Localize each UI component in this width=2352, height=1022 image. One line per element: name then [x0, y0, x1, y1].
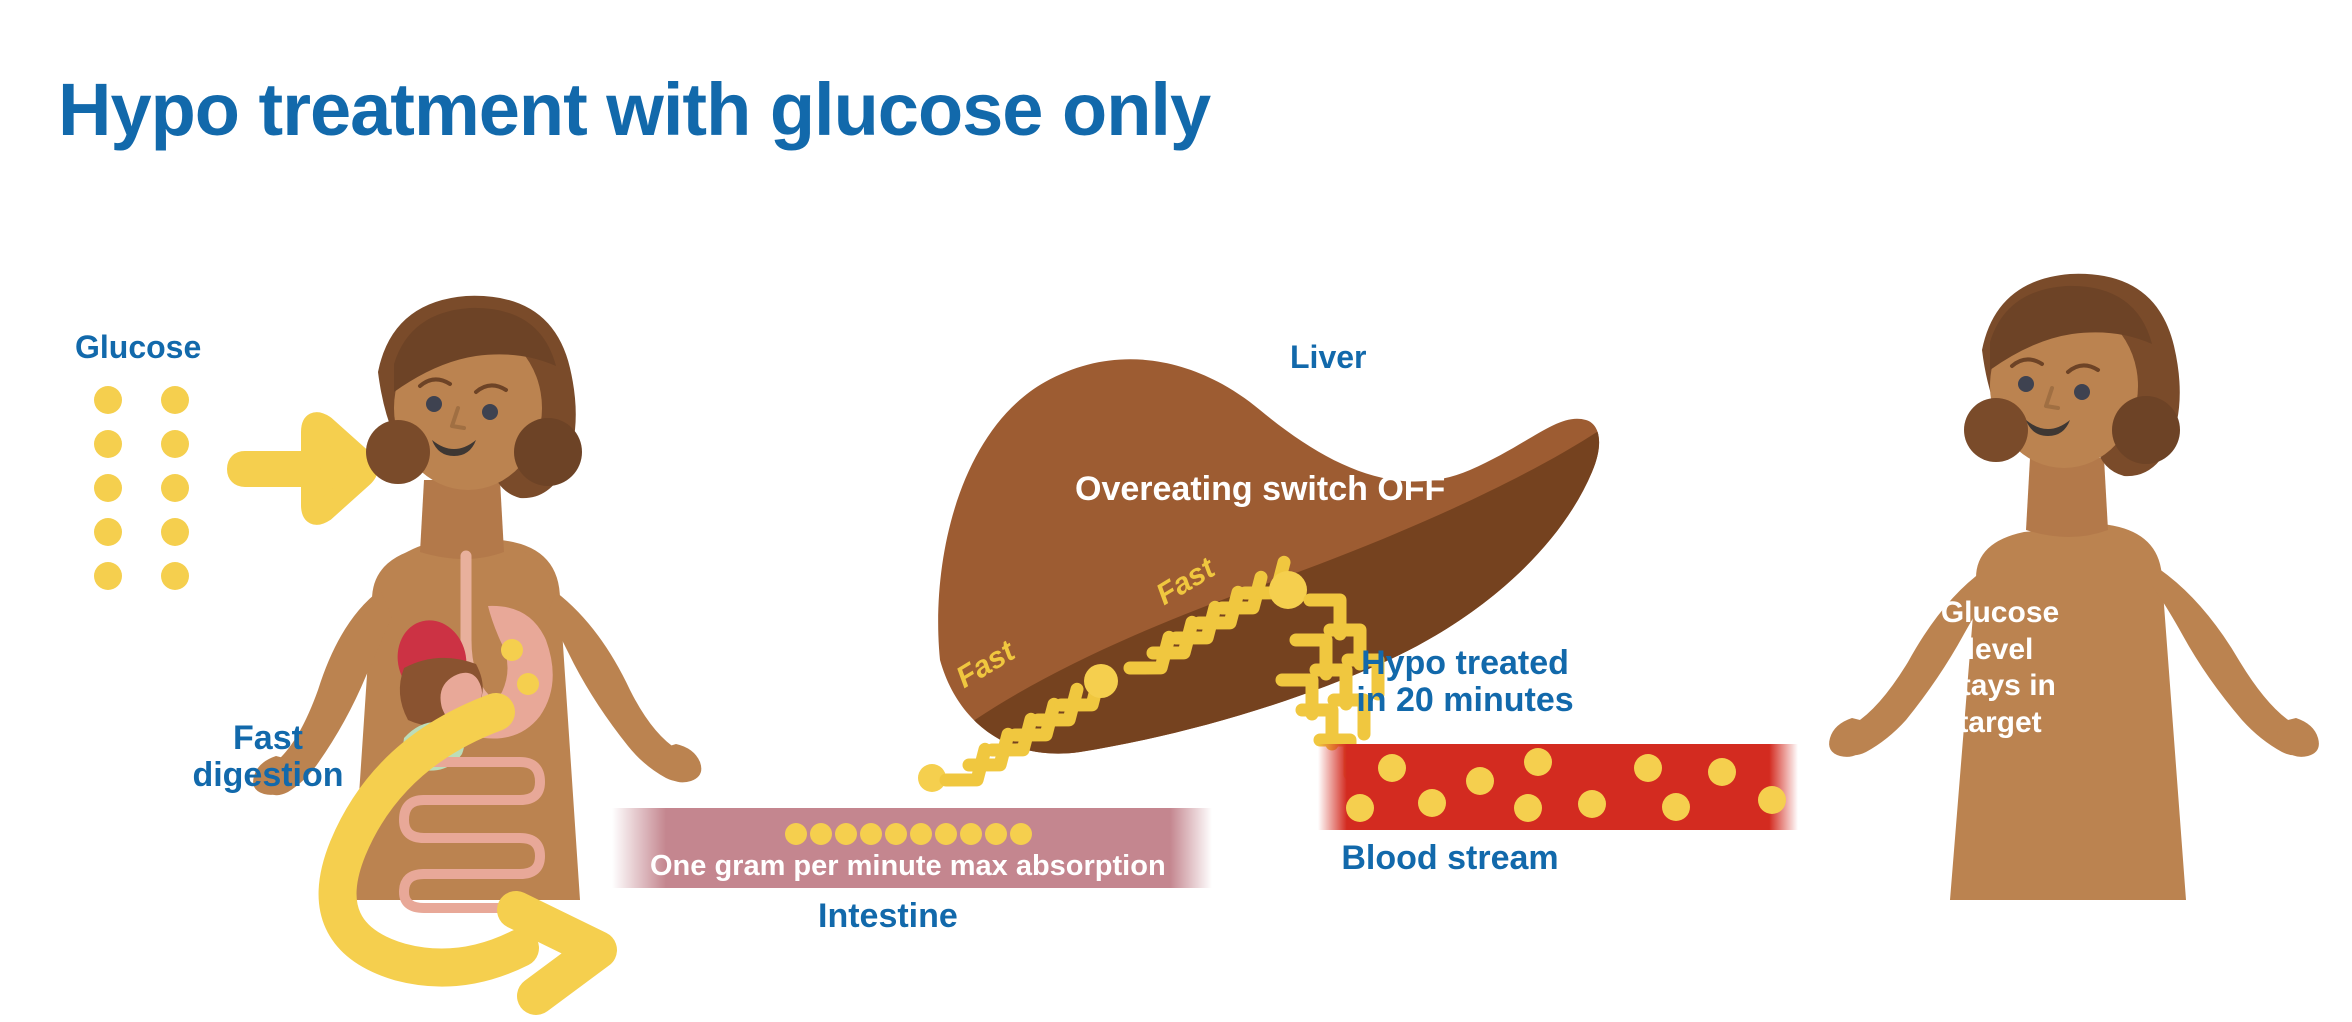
- glucose-target-line-3: stays in: [1920, 668, 2080, 705]
- blood-stream-bar: [1318, 744, 1798, 830]
- absorption-rate-label: One gram per minute max absorption: [650, 850, 1166, 883]
- glucose-dot-cluster: [94, 386, 189, 590]
- liver-label: Liver: [1290, 340, 1366, 375]
- fast-digestion-line-2: digestion: [168, 757, 368, 794]
- right-person-figure: [1829, 274, 2319, 900]
- glucose-label: Glucose: [75, 330, 201, 365]
- blood-stream-label: Blood stream: [1320, 840, 1580, 877]
- glucose-intake-arrow-icon: [238, 423, 367, 514]
- infographic-canvas: Hypo treatment with glucose only Glucose…: [0, 0, 2352, 1022]
- glucose-target-line-2: level: [1920, 632, 2080, 669]
- page-title: Hypo treatment with glucose only: [58, 70, 1210, 150]
- hypo-treated-line-1: Hypo treated: [1340, 645, 1590, 682]
- fast-digestion-line-1: Fast: [168, 720, 368, 757]
- glucose-target-line-4: target: [1920, 705, 2080, 742]
- liver-trail-dot-1: [1084, 664, 1118, 698]
- hypo-treated-line-2: in 20 minutes: [1340, 682, 1590, 719]
- glucose-target-label: Glucose level stays in target: [1920, 595, 2080, 741]
- intestine-label: Intestine: [818, 898, 958, 935]
- overeating-switch-label: Overeating switch OFF: [1075, 470, 1445, 509]
- liver-trail-dot-2: [1269, 571, 1307, 609]
- hypo-treated-label: Hypo treated in 20 minutes: [1340, 645, 1590, 718]
- fast-digestion-label: Fast digestion: [168, 720, 368, 793]
- diagram-artwork: [0, 0, 2352, 1022]
- glucose-target-line-1: Glucose: [1920, 595, 2080, 632]
